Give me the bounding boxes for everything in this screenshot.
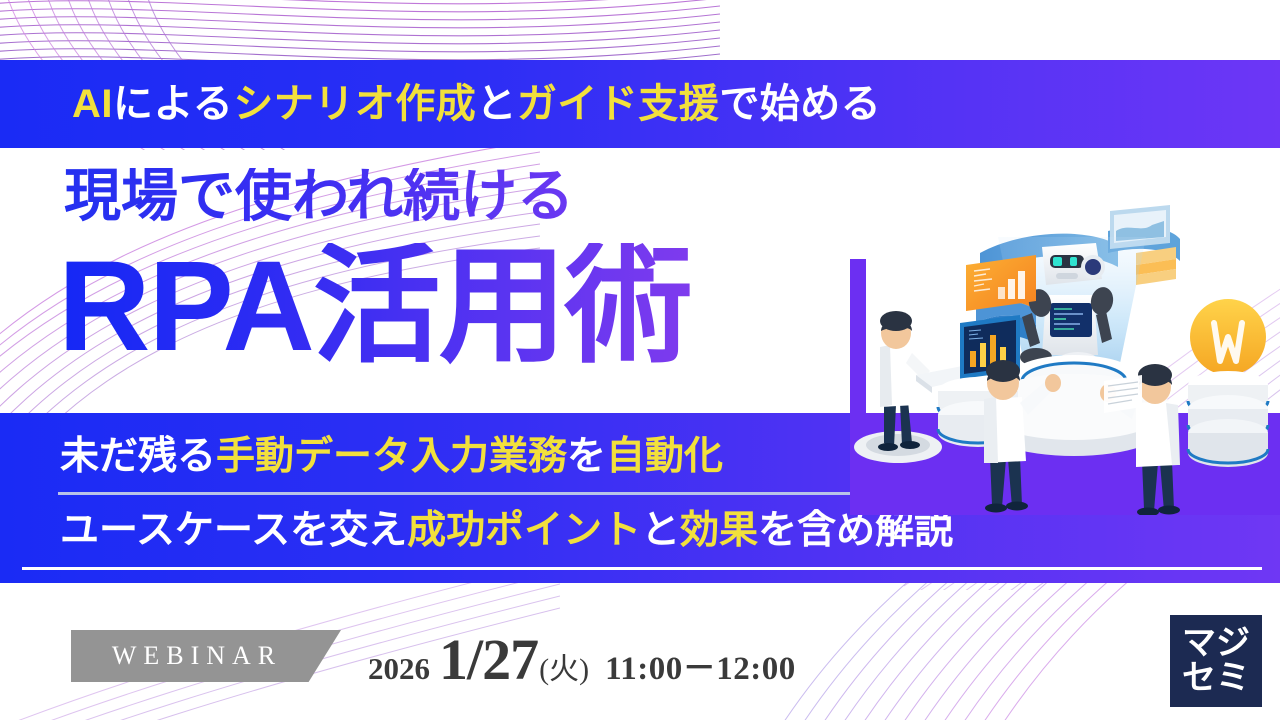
webinar-badge: WEBINAR <box>71 630 341 682</box>
band-line2-segment-2: と <box>641 509 680 552</box>
title-main-heading: RPA活用術 <box>58 243 691 371</box>
topbar-text-segment-0: AI <box>72 82 113 126</box>
topbar-text-segment-5: で始める <box>719 82 881 126</box>
logo-line-1: マジ <box>1182 626 1250 661</box>
event-time: 11:00－12:00 <box>605 641 796 689</box>
topbar-text-segment-4: ガイド支援 <box>517 82 720 126</box>
topbar-text-segment-3: と <box>476 82 517 126</box>
band-line1-segment-1: 手動データ入力業務 <box>216 435 567 478</box>
band-line1-segment-0: 未だ残る <box>60 435 216 478</box>
event-datetime: 2026 1/27 (火) 11:00－12:00 <box>368 626 796 686</box>
band-line2-segment-1: 成功ポイント <box>407 509 641 552</box>
band-line2-segment-3: 効果 <box>680 509 758 552</box>
title-subheading: 現場で使われ続ける <box>64 168 574 225</box>
description-line-2: ユースケースを交え成功ポイントと効果を含め解説 <box>0 511 1280 550</box>
band-line2-segment-4: を含め解説 <box>758 509 953 552</box>
band-line1-segment-3: 自動化 <box>606 435 723 478</box>
webinar-banner: AIによるシナリオ作成とガイド支援で始める 現場で使われ続ける RPA活用術 未… <box>0 0 1280 720</box>
database-cylinder-right <box>1188 371 1268 467</box>
isometric-rpa-illustration <box>850 175 1280 515</box>
top-headline-bar: AIによるシナリオ作成とガイド支援で始める <box>0 60 1280 148</box>
event-date: 1/27 <box>439 626 538 693</box>
logo-line-2: セミ <box>1182 661 1250 696</box>
band-line1-segment-2: を <box>567 435 606 478</box>
band-line2-segment-0: ユースケースを交え <box>60 509 407 552</box>
lightbulb-idea-icon <box>1190 299 1266 381</box>
majisemi-logo: マジ セミ <box>1170 615 1262 707</box>
topbar-text-segment-1: による <box>113 82 233 126</box>
event-year: 2026 <box>368 651 430 687</box>
topbar-text-segment-2: シナリオ作成 <box>233 82 476 126</box>
band-divider-bottom <box>22 567 1262 570</box>
top-headline-text: AIによるシナリオ作成とガイド支援で始める <box>72 84 881 124</box>
webinar-badge-label: WEBINAR <box>108 641 304 671</box>
event-day-of-week: (火) <box>539 644 589 688</box>
